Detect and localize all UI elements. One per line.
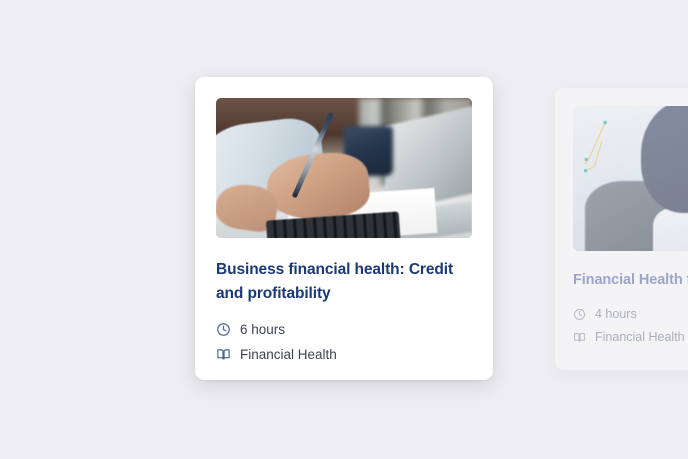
course-meta-list: 4 hours Financial Health [573, 308, 688, 344]
course-title[interactable]: Business financial health: Credit and pr… [216, 258, 472, 306]
photo-woman-hijab [573, 106, 688, 251]
course-duration-label: 6 hours [240, 323, 285, 337]
course-meta-category: Financial Health [573, 331, 688, 344]
clock-icon [573, 308, 586, 321]
card-content: Business financial health: Credit and pr… [195, 77, 493, 362]
photo-calculator [266, 211, 401, 238]
card-content: Financial Health f 4 hours [555, 88, 688, 344]
course-meta-duration: 6 hours [216, 322, 472, 337]
course-card-secondary[interactable]: Financial Health f 4 hours [555, 88, 688, 370]
book-icon [216, 347, 231, 362]
course-meta-category: Financial Health [216, 347, 472, 362]
course-thumbnail-primary [216, 98, 472, 238]
course-card-primary[interactable]: Business financial health: Credit and pr… [195, 77, 493, 380]
course-duration-label: 4 hours [595, 308, 637, 321]
course-category-label: Financial Health [595, 331, 685, 344]
page-canvas: Business financial health: Credit and pr… [0, 0, 688, 459]
photo-hand-writing [216, 98, 472, 238]
photo-shirt [653, 208, 688, 252]
course-category-label: Financial Health [240, 348, 337, 362]
course-thumbnail-secondary [573, 106, 688, 251]
course-meta-list: 6 hours Financial Health [216, 322, 472, 362]
clock-icon [216, 322, 231, 337]
course-meta-duration: 4 hours [573, 308, 688, 321]
book-icon [573, 331, 586, 344]
course-title[interactable]: Financial Health f [573, 269, 688, 292]
